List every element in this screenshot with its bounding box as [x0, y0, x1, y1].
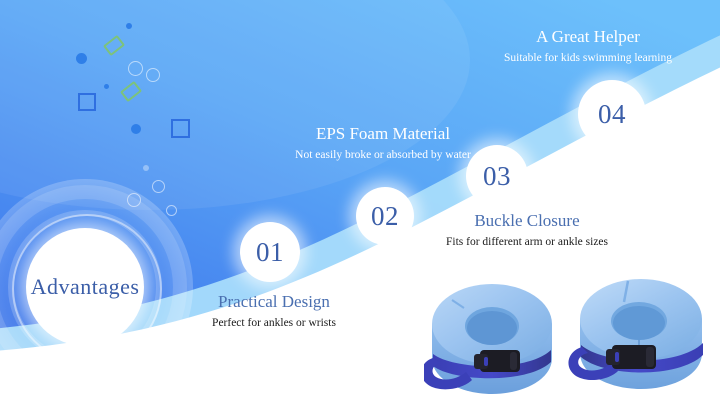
feature-subtitle-01: Perfect for ankles or wrists: [139, 317, 409, 329]
feature-title-02: EPS Foam Material: [248, 125, 518, 144]
feature-block-02: EPS Foam Material Not easily broke or ab…: [248, 125, 518, 161]
feature-title-01: Practical Design: [139, 293, 409, 312]
feature-block-04: A Great Helper Suitable for kids swimmin…: [458, 28, 718, 64]
step-badge-01[interactable]: 01: [240, 222, 300, 282]
step-number-04: 04: [598, 101, 626, 128]
step-number-01: 01: [256, 239, 284, 266]
feature-block-01: Practical Design Perfect for ankles or w…: [139, 293, 409, 329]
infographic-canvas: Advantages 01 02 03 04 Practical Design …: [0, 0, 720, 415]
feature-subtitle-03: Fits for different arm or ankle sizes: [392, 236, 662, 248]
feature-title-03: Buckle Closure: [392, 212, 662, 231]
product-image-aqua-weight-right: [566, 259, 714, 415]
step-badge-04[interactable]: 04: [578, 80, 646, 148]
advantages-badge[interactable]: Advantages: [26, 228, 144, 346]
step-number-03: 03: [483, 163, 511, 190]
feature-block-03: Buckle Closure Fits for different arm or…: [392, 212, 662, 248]
advantages-label: Advantages: [31, 276, 140, 298]
feature-subtitle-04: Suitable for kids swimming learning: [458, 52, 718, 64]
feature-title-04: A Great Helper: [458, 28, 718, 47]
product-image-aqua-weight-left: [424, 262, 559, 414]
feature-subtitle-02: Not easily broke or absorbed by water: [248, 149, 518, 161]
